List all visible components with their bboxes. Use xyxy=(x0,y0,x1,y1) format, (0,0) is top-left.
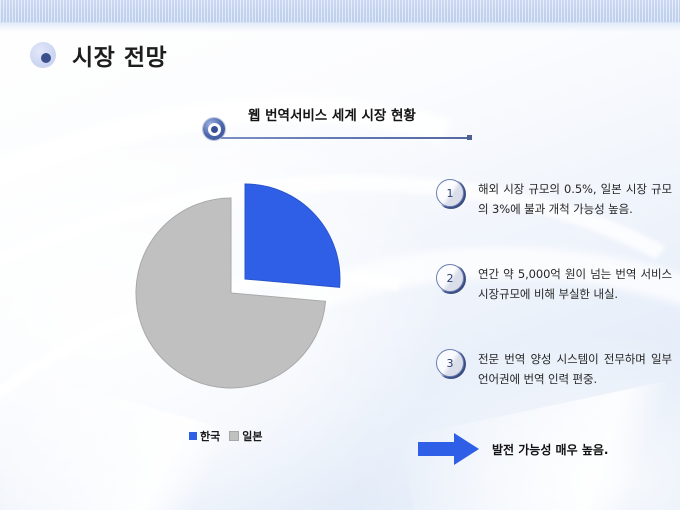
bullet-text-2: 연간 약 5,000억 원이 넘는 번역 서비스 시장규모에 비해 부실한 내실… xyxy=(478,263,672,305)
number-badge-label-3: 3 xyxy=(447,358,454,369)
bullet-item-2: 2 연간 약 5,000억 원이 넘는 번역 서비스 시장규모에 비해 부실한 … xyxy=(436,263,672,323)
bullet-text-1: 해외 시장 규모의 0.5%, 일본 시장 규모의 3%에 불과 개척 가능성 … xyxy=(478,178,672,220)
circle-dot-icon xyxy=(30,42,56,68)
legend-label-korea: 한국 xyxy=(200,428,220,444)
chart-legend: 한국 일본 xyxy=(189,428,263,444)
pie-chart-svg xyxy=(125,160,375,410)
bullet-text-3: 전문 번역 양성 시스템이 전무하며 일부 언어권에 번역 인력 편중. xyxy=(478,348,672,390)
top-banner xyxy=(0,0,680,23)
conclusion-row: 발전 가능성 매우 높음. xyxy=(418,432,608,466)
number-badge-label-1: 1 xyxy=(447,188,454,199)
legend-item-korea: 한국 xyxy=(189,428,220,444)
ring-icon-inner xyxy=(208,123,221,136)
number-badge-3: 3 xyxy=(436,349,466,379)
number-badge-1: 1 xyxy=(436,179,466,209)
chart-heading: 웹 번역서비스 세계 시장 현황 xyxy=(248,104,416,124)
bullet-list: 1 해외 시장 규모의 0.5%, 일본 시장 규모의 3%에 불과 개척 가능… xyxy=(436,178,672,433)
page-title-row: 시장 전망 xyxy=(30,38,167,72)
line-end-dot-icon xyxy=(467,135,472,140)
number-badge-ring: 3 xyxy=(436,349,464,377)
number-badge-ring: 2 xyxy=(436,264,464,292)
number-badge-2: 2 xyxy=(436,264,466,294)
conclusion-text: 발전 가능성 매우 높음. xyxy=(492,441,608,458)
top-banner-fade xyxy=(0,22,680,32)
pie-chart xyxy=(125,160,375,410)
legend-item-japan: 일본 xyxy=(229,428,262,444)
pie-slice-korea xyxy=(245,184,340,287)
legend-swatch-japan xyxy=(229,431,239,441)
right-arrow-icon xyxy=(418,432,480,466)
bullet-item-3: 3 전문 번역 양성 시스템이 전무하며 일부 언어권에 번역 인력 편중. xyxy=(436,348,672,408)
circle-dot-icon-core xyxy=(41,53,51,63)
ring-icon-core xyxy=(211,126,218,133)
number-badge-ring: 1 xyxy=(436,179,464,207)
chart-heading-group: 웹 번역서비스 세계 시장 현황 xyxy=(203,104,483,146)
slide-canvas: 시장 전망 웹 번역서비스 세계 시장 현황 한국 일본 xyxy=(0,0,680,510)
legend-swatch-korea xyxy=(189,432,197,440)
legend-label-japan: 일본 xyxy=(242,428,262,444)
page-title: 시장 전망 xyxy=(72,38,167,72)
bullet-item-1: 1 해외 시장 규모의 0.5%, 일본 시장 규모의 3%에 불과 개척 가능… xyxy=(436,178,672,238)
number-badge-label-2: 2 xyxy=(447,273,454,284)
heading-underline xyxy=(221,137,469,139)
